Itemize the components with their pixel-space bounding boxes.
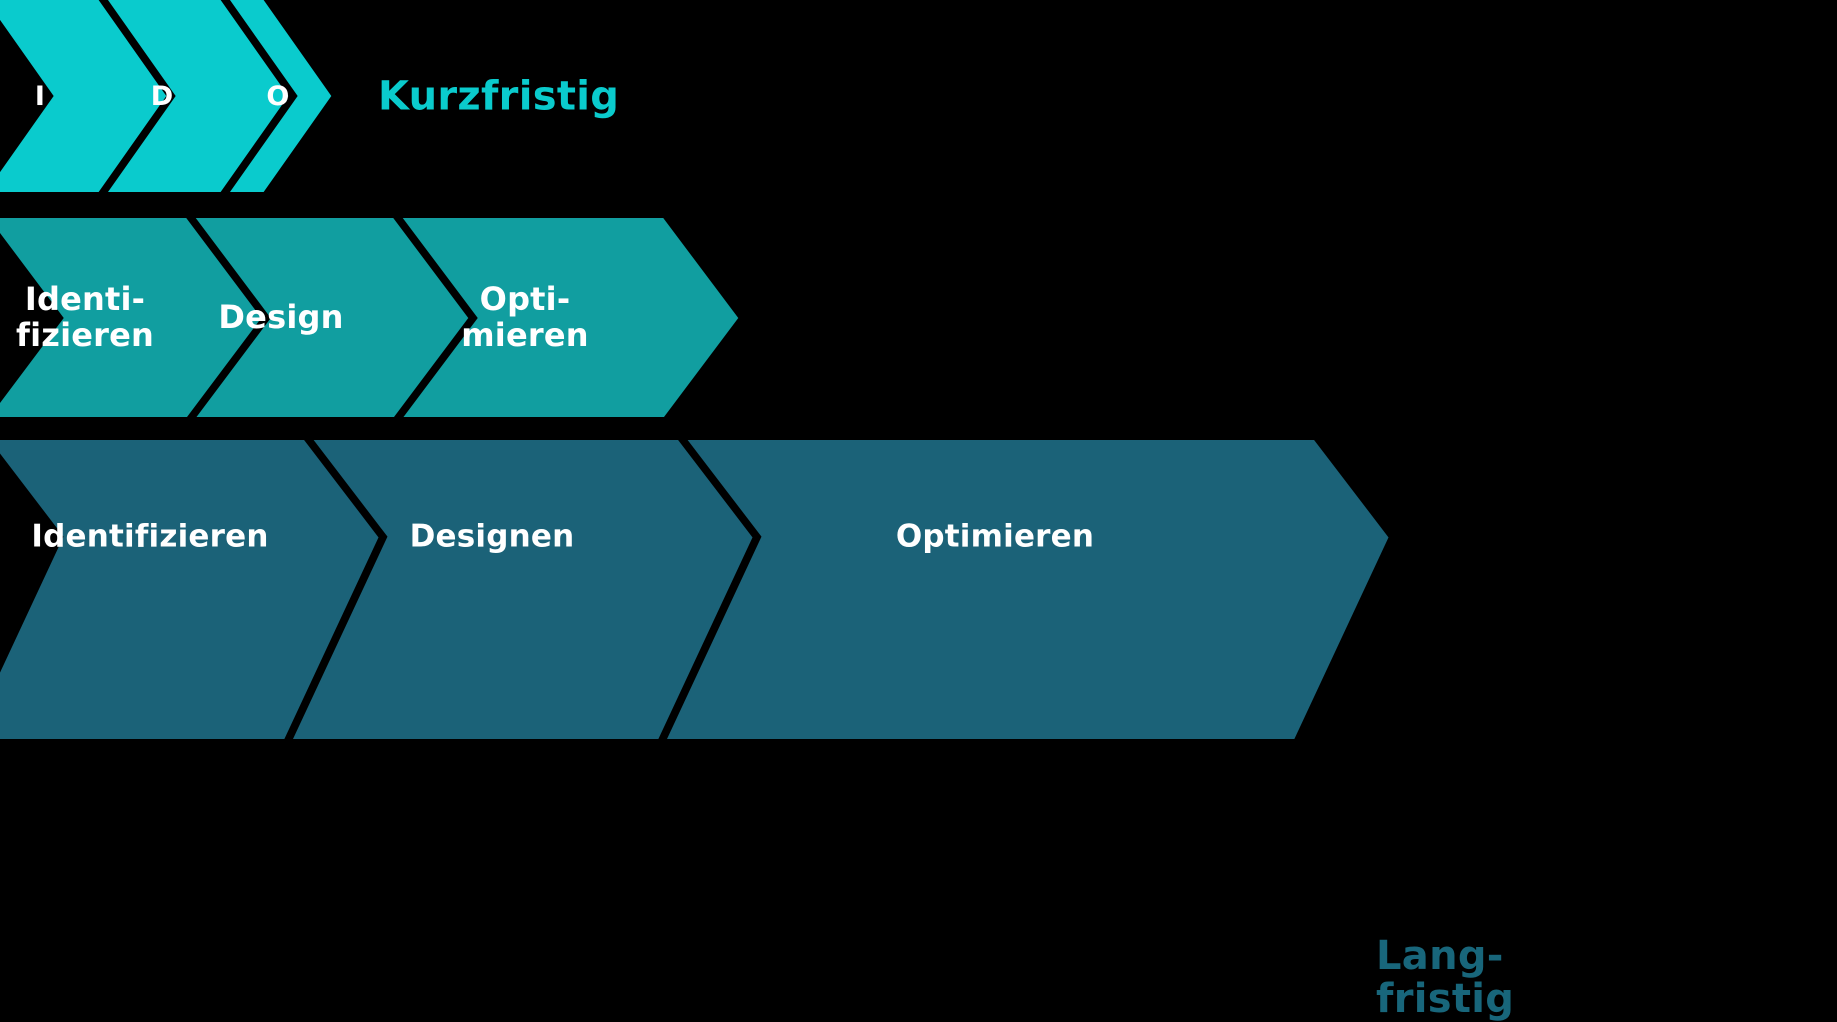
horizon-label-short-term: Kurzfristig xyxy=(378,75,619,118)
row-long-term: Identifizieren Designen Optimieren Lang-… xyxy=(0,440,1837,739)
chevron-shape xyxy=(638,440,1392,739)
diagram-canvas: I D O Kurzfristig Identi- fizieren Desig… xyxy=(0,0,1837,739)
row-short-term-chevrons xyxy=(0,0,1837,192)
row-long-term-chevrons xyxy=(0,440,1837,739)
horizon-label-long-term: Lang- fristig xyxy=(1376,935,1514,1021)
row-mid-term-chevrons xyxy=(0,218,1837,417)
row-mid-term: Identi- fizieren Design Opti- mieren Mit… xyxy=(0,218,1837,417)
row-short-term: I D O Kurzfristig xyxy=(0,0,1837,192)
